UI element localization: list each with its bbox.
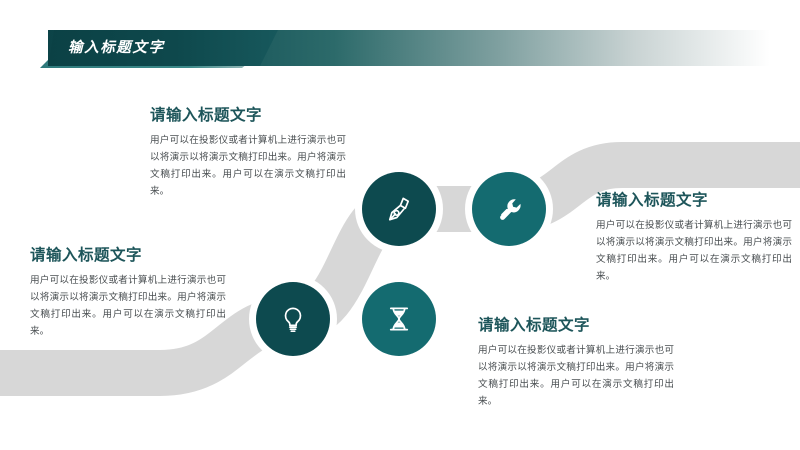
block-3-title: 请输入标题文字 <box>30 243 226 265</box>
page-title: 输入标题文字 <box>68 30 165 66</box>
node-bulb[interactable] <box>256 282 330 356</box>
block-4-body: 用户可以在投影仪或者计算机上进行演示也可以将演示以将演示文稿打印出来。用户将演示… <box>478 342 674 410</box>
wrench-icon <box>492 192 526 226</box>
block-1-title: 请输入标题文字 <box>150 103 346 125</box>
block-2-body: 用户可以在投影仪或者计算机上进行演示也可以将演示以将演示文稿打印出来。用户将演示… <box>596 217 792 285</box>
node-pen[interactable] <box>362 172 436 246</box>
pen-nib-icon <box>382 192 416 226</box>
hourglass-icon <box>382 302 416 336</box>
content-block-2: 请输入标题文字 用户可以在投影仪或者计算机上进行演示也可以将演示以将演示文稿打印… <box>596 188 792 285</box>
block-2-title: 请输入标题文字 <box>596 188 792 210</box>
node-wrench[interactable] <box>472 172 546 246</box>
content-block-4: 请输入标题文字 用户可以在投影仪或者计算机上进行演示也可以将演示以将演示文稿打印… <box>478 313 674 410</box>
block-1-body: 用户可以在投影仪或者计算机上进行演示也可以将演示以将演示文稿打印出来。用户将演示… <box>150 132 346 200</box>
block-3-body: 用户可以在投影仪或者计算机上进行演示也可以将演示以将演示文稿打印出来。用户将演示… <box>30 272 226 340</box>
lightbulb-icon <box>276 302 310 336</box>
node-hourglass[interactable] <box>362 282 436 356</box>
content-block-3: 请输入标题文字 用户可以在投影仪或者计算机上进行演示也可以将演示以将演示文稿打印… <box>30 243 226 340</box>
content-block-1: 请输入标题文字 用户可以在投影仪或者计算机上进行演示也可以将演示以将演示文稿打印… <box>150 103 346 200</box>
block-4-title: 请输入标题文字 <box>478 313 674 335</box>
slide-canvas: 输入标题文字 <box>0 0 800 450</box>
